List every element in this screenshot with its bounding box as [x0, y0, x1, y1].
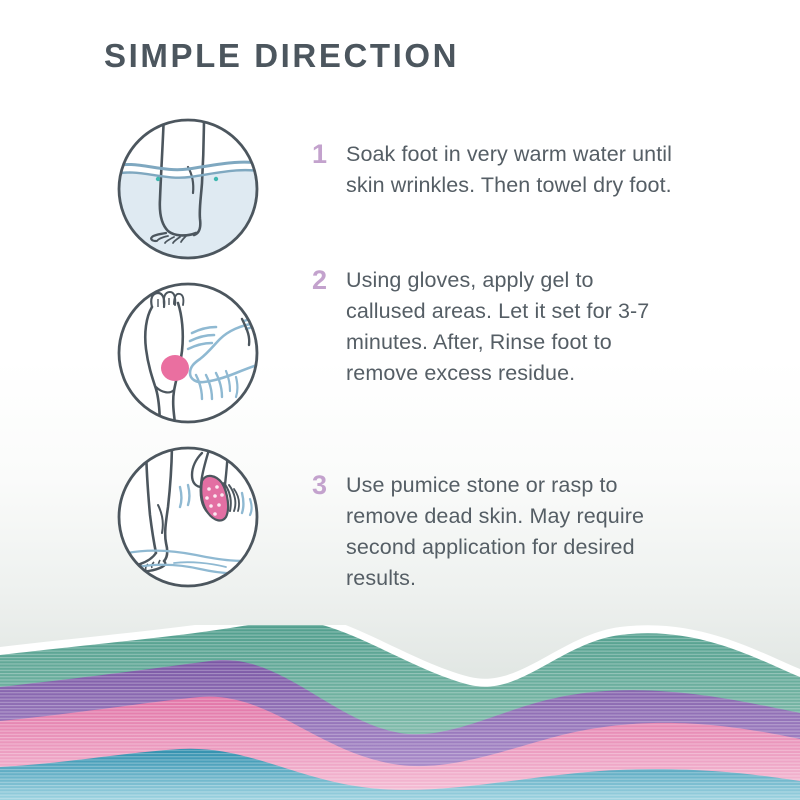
foot-soaking-in-water-icon	[116, 117, 260, 261]
step-3-number: 3	[312, 470, 346, 500]
layered-wave-bands	[0, 625, 800, 800]
step-1-number: 1	[312, 139, 346, 169]
gloved-hand-applying-gel-icon	[116, 281, 260, 425]
step-1-text: Soak foot in very warm water until skin …	[346, 139, 676, 201]
infographic-page: SIMPLE DIRECTION	[0, 0, 800, 800]
step-3-text: Use pumice stone or rasp to remove dead …	[346, 470, 676, 594]
page-title: SIMPLE DIRECTION	[104, 37, 459, 75]
step-2: 2 Using gloves, apply gel to callused ar…	[312, 265, 676, 389]
pumice-stone-on-foot-icon	[116, 445, 260, 589]
step-1: 1 Soak foot in very warm water until ski…	[312, 139, 676, 201]
step-2-text: Using gloves, apply gel to callused area…	[346, 265, 676, 389]
step-3: 3 Use pumice stone or rasp to remove dea…	[312, 470, 676, 594]
step-2-number: 2	[312, 265, 346, 295]
